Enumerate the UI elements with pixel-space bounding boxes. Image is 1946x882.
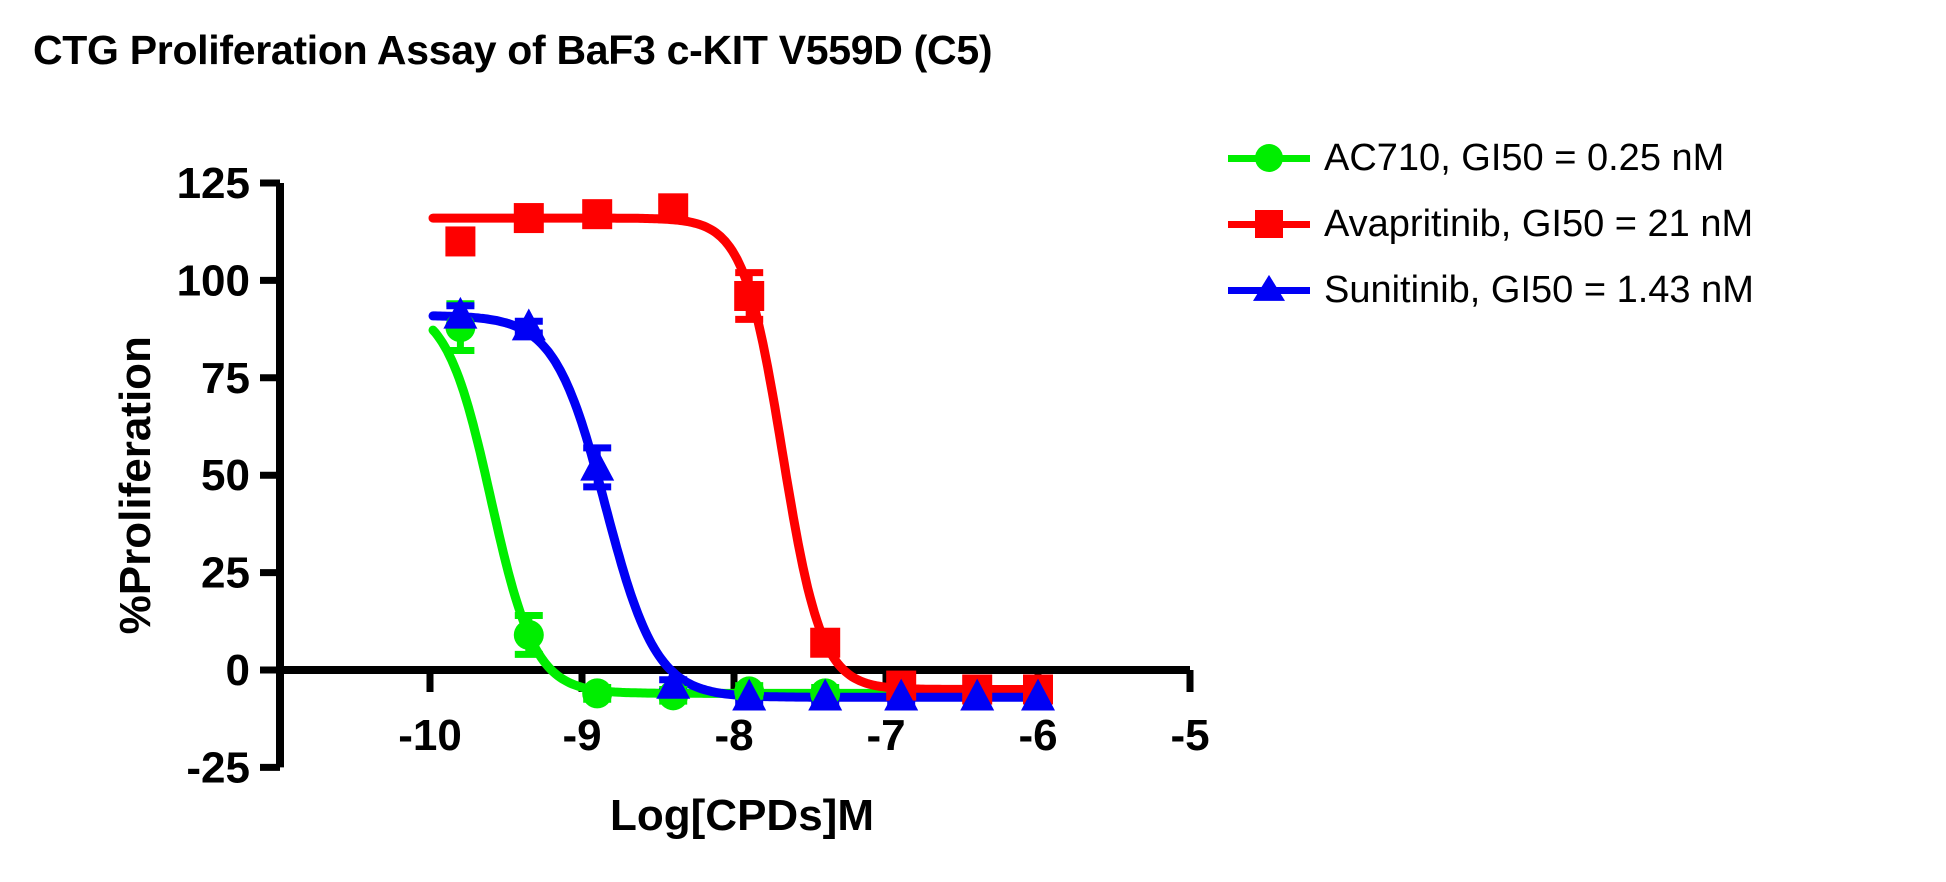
y-axis-tick-label: 50	[201, 451, 250, 500]
chart-page: CTG Proliferation Assay of BaF3 c-KIT V5…	[0, 0, 1946, 882]
data-point-avapritinib	[810, 628, 840, 658]
legend-triangle-marker-icon	[1228, 268, 1310, 312]
legend-item-label: Avapritinib, GI50 = 21 nM	[1310, 202, 1753, 246]
x-axis-tick-label: -10	[398, 711, 462, 760]
legend-circle-marker-icon	[1228, 136, 1310, 180]
data-point-avapritinib	[514, 203, 544, 233]
x-axis-tick-label: -6	[1018, 711, 1057, 760]
y-axis-tick-label: 25	[201, 549, 250, 598]
y-axis-title: %Proliferation	[111, 336, 160, 634]
data-point-sunitinib	[580, 449, 614, 481]
y-axis-tick-label: 125	[177, 159, 250, 208]
x-axis-title: Log[CPDs]M	[610, 791, 874, 840]
y-axis-tick-label: 100	[177, 256, 250, 305]
data-point-avapritinib	[445, 226, 475, 256]
x-axis-tick-label: -7	[866, 711, 905, 760]
y-axis-tick-label: 75	[201, 354, 250, 403]
data-point-ac710	[514, 620, 544, 650]
plot-area: -250255075100125-10-9-8-7-6-5Log[CPDs]M%…	[0, 0, 1946, 882]
data-point-ac710	[582, 678, 612, 708]
y-axis-tick-label: 0	[226, 646, 250, 695]
x-axis-tick-label: -9	[562, 711, 601, 760]
data-point-avapritinib	[658, 193, 688, 223]
legend-item-label: Sunitinib, GI50 = 1.43 nM	[1310, 268, 1754, 312]
legend-item[interactable]: Sunitinib, GI50 = 1.43 nM	[1228, 268, 1754, 312]
x-axis-tick-label: -8	[714, 711, 753, 760]
legend-item[interactable]: Avapritinib, GI50 = 21 nM	[1228, 202, 1754, 246]
data-point-avapritinib	[734, 281, 764, 311]
y-axis-tick-label: -25	[186, 743, 250, 792]
legend-item[interactable]: AC710, GI50 = 0.25 nM	[1228, 136, 1754, 180]
chart-legend: AC710, GI50 = 0.25 nM Avapritinib, GI50 …	[1228, 136, 1754, 312]
data-point-avapritinib	[582, 199, 612, 229]
legend-item-label: AC710, GI50 = 0.25 nM	[1310, 136, 1724, 180]
x-axis-tick-label: -5	[1170, 711, 1209, 760]
legend-square-marker-icon	[1228, 202, 1310, 246]
